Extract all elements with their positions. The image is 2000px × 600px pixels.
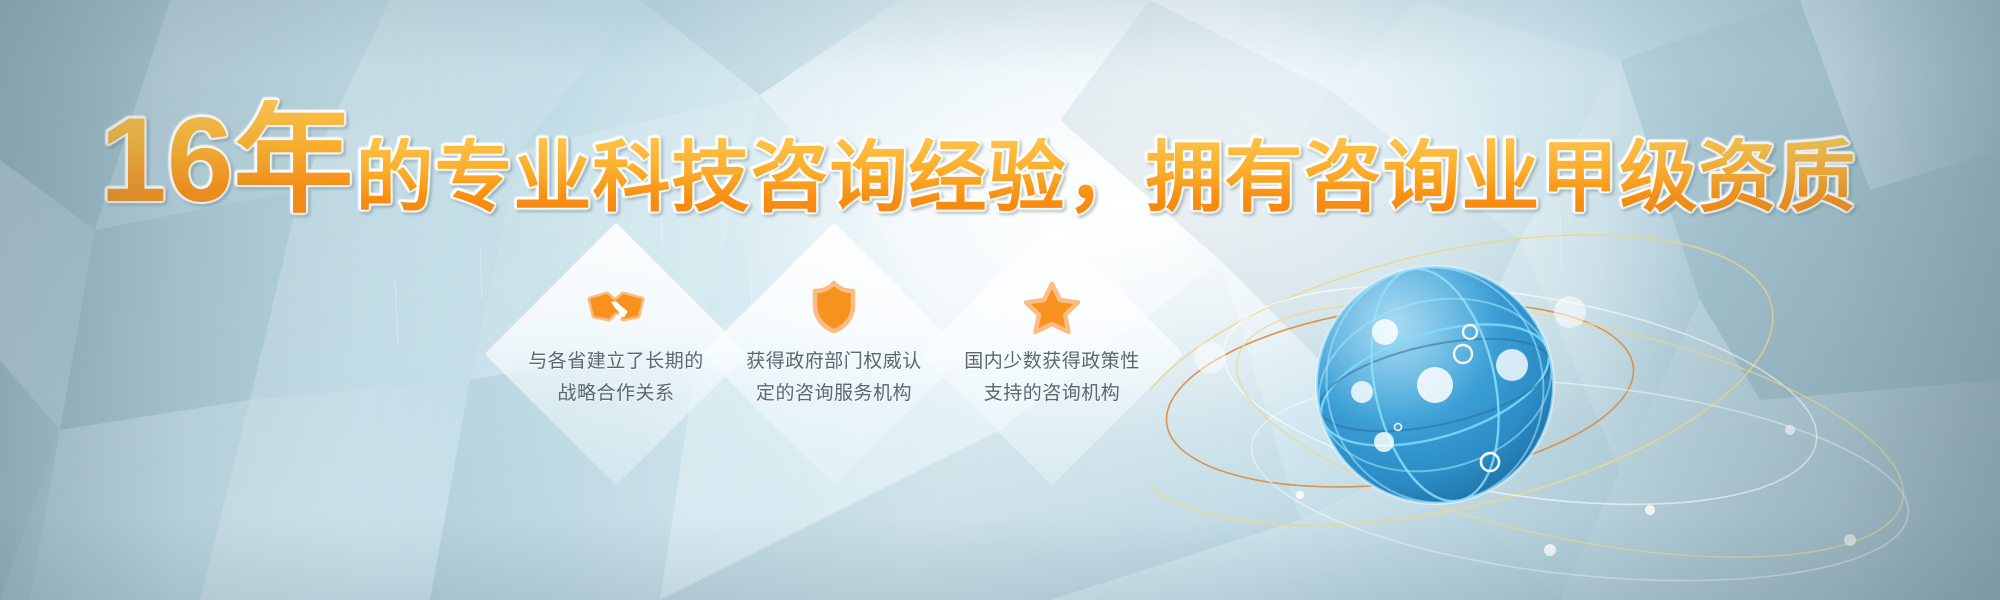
feature-line-1: 获得政府部门权威认: [746, 346, 922, 378]
feature-line-2: 战略合作关系: [528, 378, 704, 410]
feature-line-1: 与各省建立了长期的: [528, 346, 704, 378]
star-icon: [1023, 278, 1081, 336]
feature-text: 国内少数获得政策性 支持的咨询机构: [964, 346, 1140, 410]
feature-text: 获得政府部门权威认 定的咨询服务机构: [746, 346, 922, 410]
feature-line-1: 国内少数获得政策性: [964, 346, 1140, 378]
handshake-icon: [587, 278, 645, 336]
banner-stage: 16年 的专业科技咨询经验，拥有咨询业甲级资质: [0, 0, 2000, 600]
feature-line-2: 支持的咨询机构: [964, 378, 1140, 410]
feature-text: 与各省建立了长期的 战略合作关系: [528, 346, 704, 410]
feature-list: 与各省建立了长期的 战略合作关系 获得政府部门权威认 定的咨询服务机构: [490, 222, 1190, 522]
feature-card-policy[interactable]: 国内少数获得政策性 支持的咨询机构: [926, 228, 1178, 480]
shield-icon: [805, 278, 863, 336]
feature-line-2: 定的咨询服务机构: [746, 378, 922, 410]
headline-number: 16年: [100, 100, 353, 220]
globe-decoration: [1150, 180, 2000, 600]
